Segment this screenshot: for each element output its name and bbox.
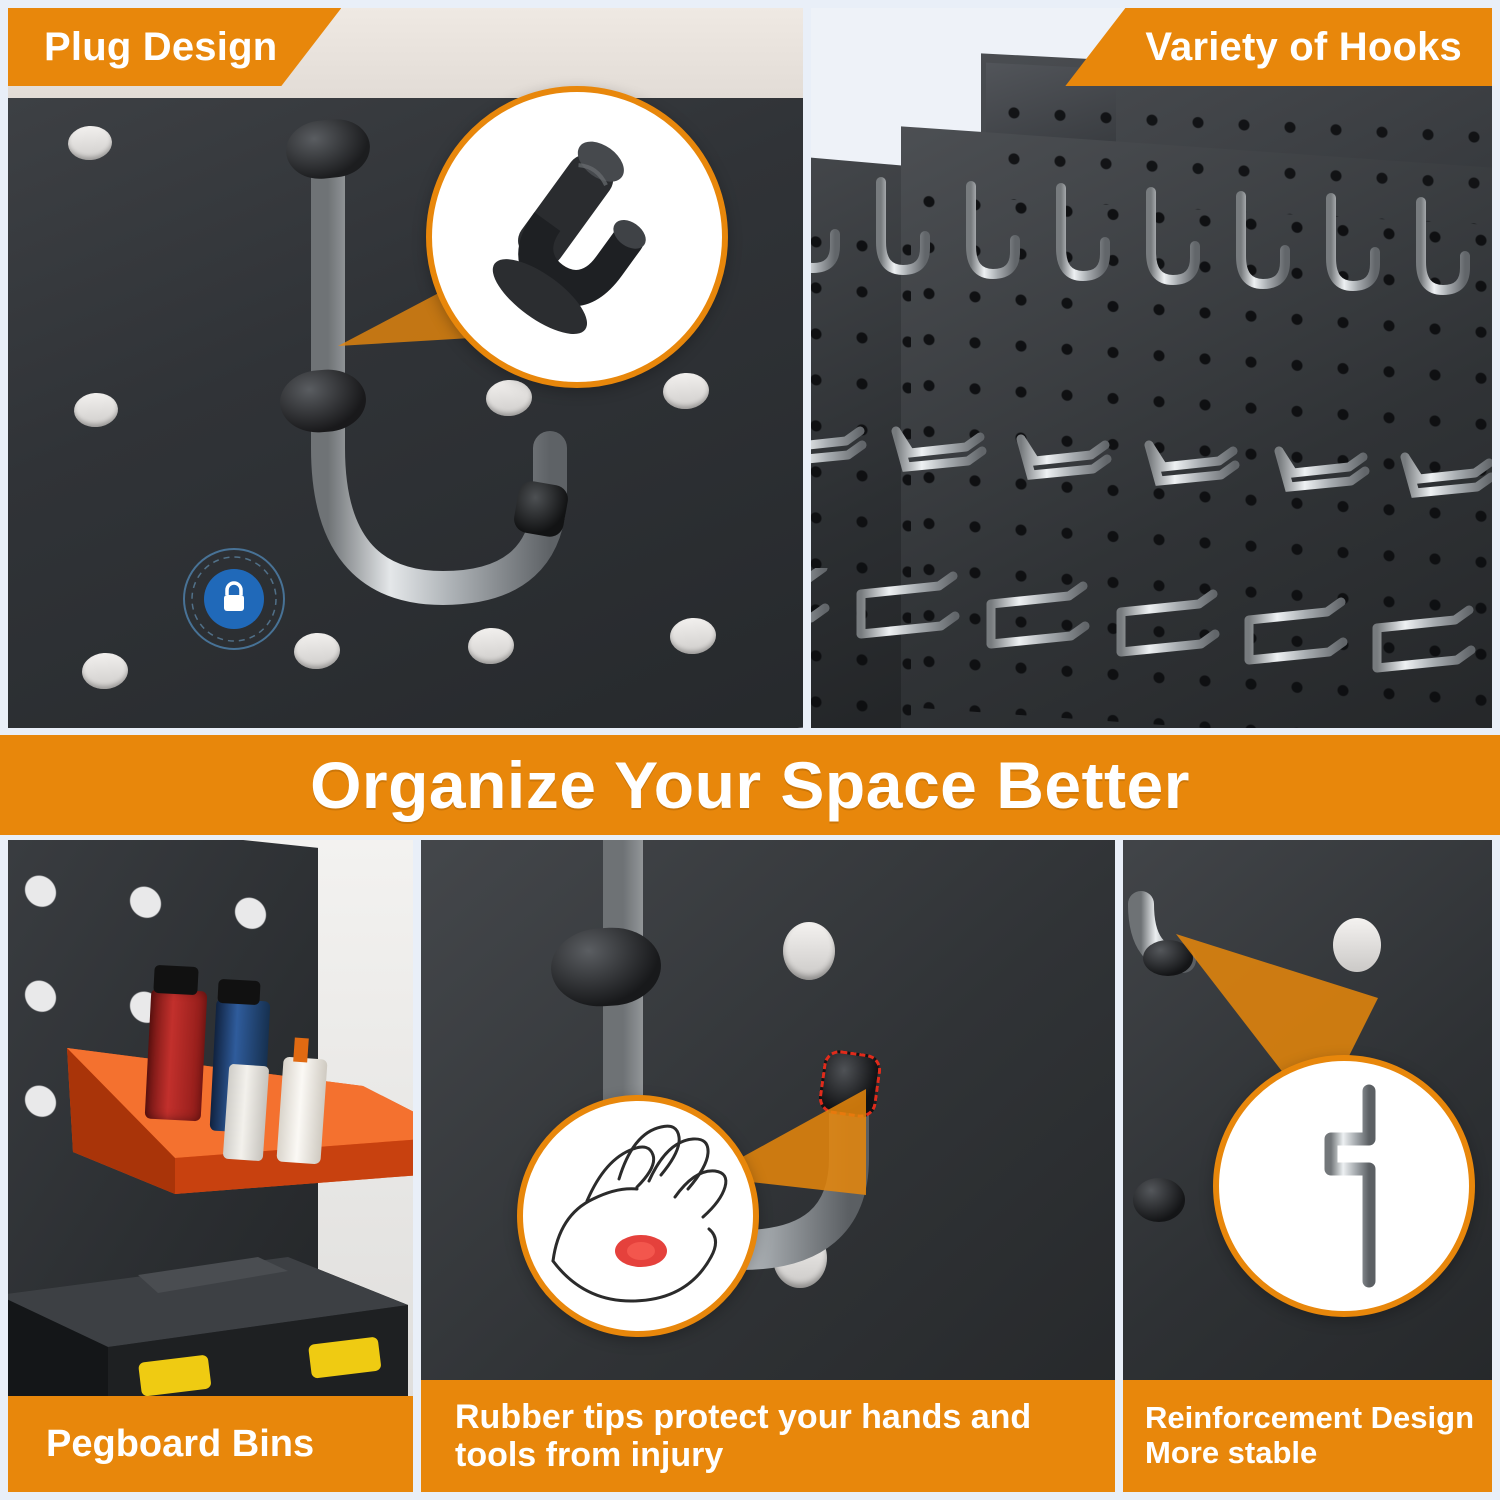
plug-design-label: Plug Design [44,25,277,70]
small-tube [223,1064,270,1162]
reinforcement-design-caption: Reinforcement Design More stable [1123,1380,1492,1492]
hook-closeup-circle [1213,1055,1475,1317]
product-infographic: Plug Design [0,0,1500,1500]
lock-shield-icon [180,545,288,653]
glue-bottle-tip [293,1038,309,1063]
hand-closeup-circle [517,1095,759,1337]
j-hooks-row [811,168,1492,308]
l-hooks-row [811,568,1492,678]
rubber-tips-panel: Rubber tips protect your hands and tools… [421,840,1115,1492]
headline-text: Organize Your Space Better [310,747,1190,823]
pegboard-bins-panel: Pegboard Bins [8,840,413,1492]
rubber-tips-caption-text: Rubber tips protect your hands and tools… [455,1398,1091,1474]
plug-closeup-circle [426,86,728,388]
variety-of-hooks-label: Variety of Hooks [1145,25,1462,70]
rubber-tips-caption: Rubber tips protect your hands and tools… [421,1380,1115,1492]
spray-can-cap [217,979,260,1005]
spray-can-red [145,989,208,1122]
spray-can-cap [153,965,198,995]
rubber-tip-end [512,479,570,539]
reinforcement-caption-line1: Reinforcement Design [1145,1401,1474,1436]
double-prong-hooks-row [811,413,1492,503]
variety-of-hooks-ribbon: Variety of Hooks [1065,8,1492,86]
reinforcement-design-panel: Reinforcement Design More stable [1123,840,1492,1492]
variety-of-hooks-panel: Variety of Hooks [811,8,1492,728]
glue-bottle [276,1057,327,1165]
reinforcement-caption-line2: More stable [1145,1436,1317,1471]
pegboard-bins-caption-text: Pegboard Bins [46,1423,314,1466]
hook-base-plug [1133,1178,1185,1222]
pegboard-bins-caption: Pegboard Bins [8,1396,413,1492]
plug-design-panel: Plug Design [8,8,803,728]
headline-banner: Organize Your Space Better [0,735,1500,835]
